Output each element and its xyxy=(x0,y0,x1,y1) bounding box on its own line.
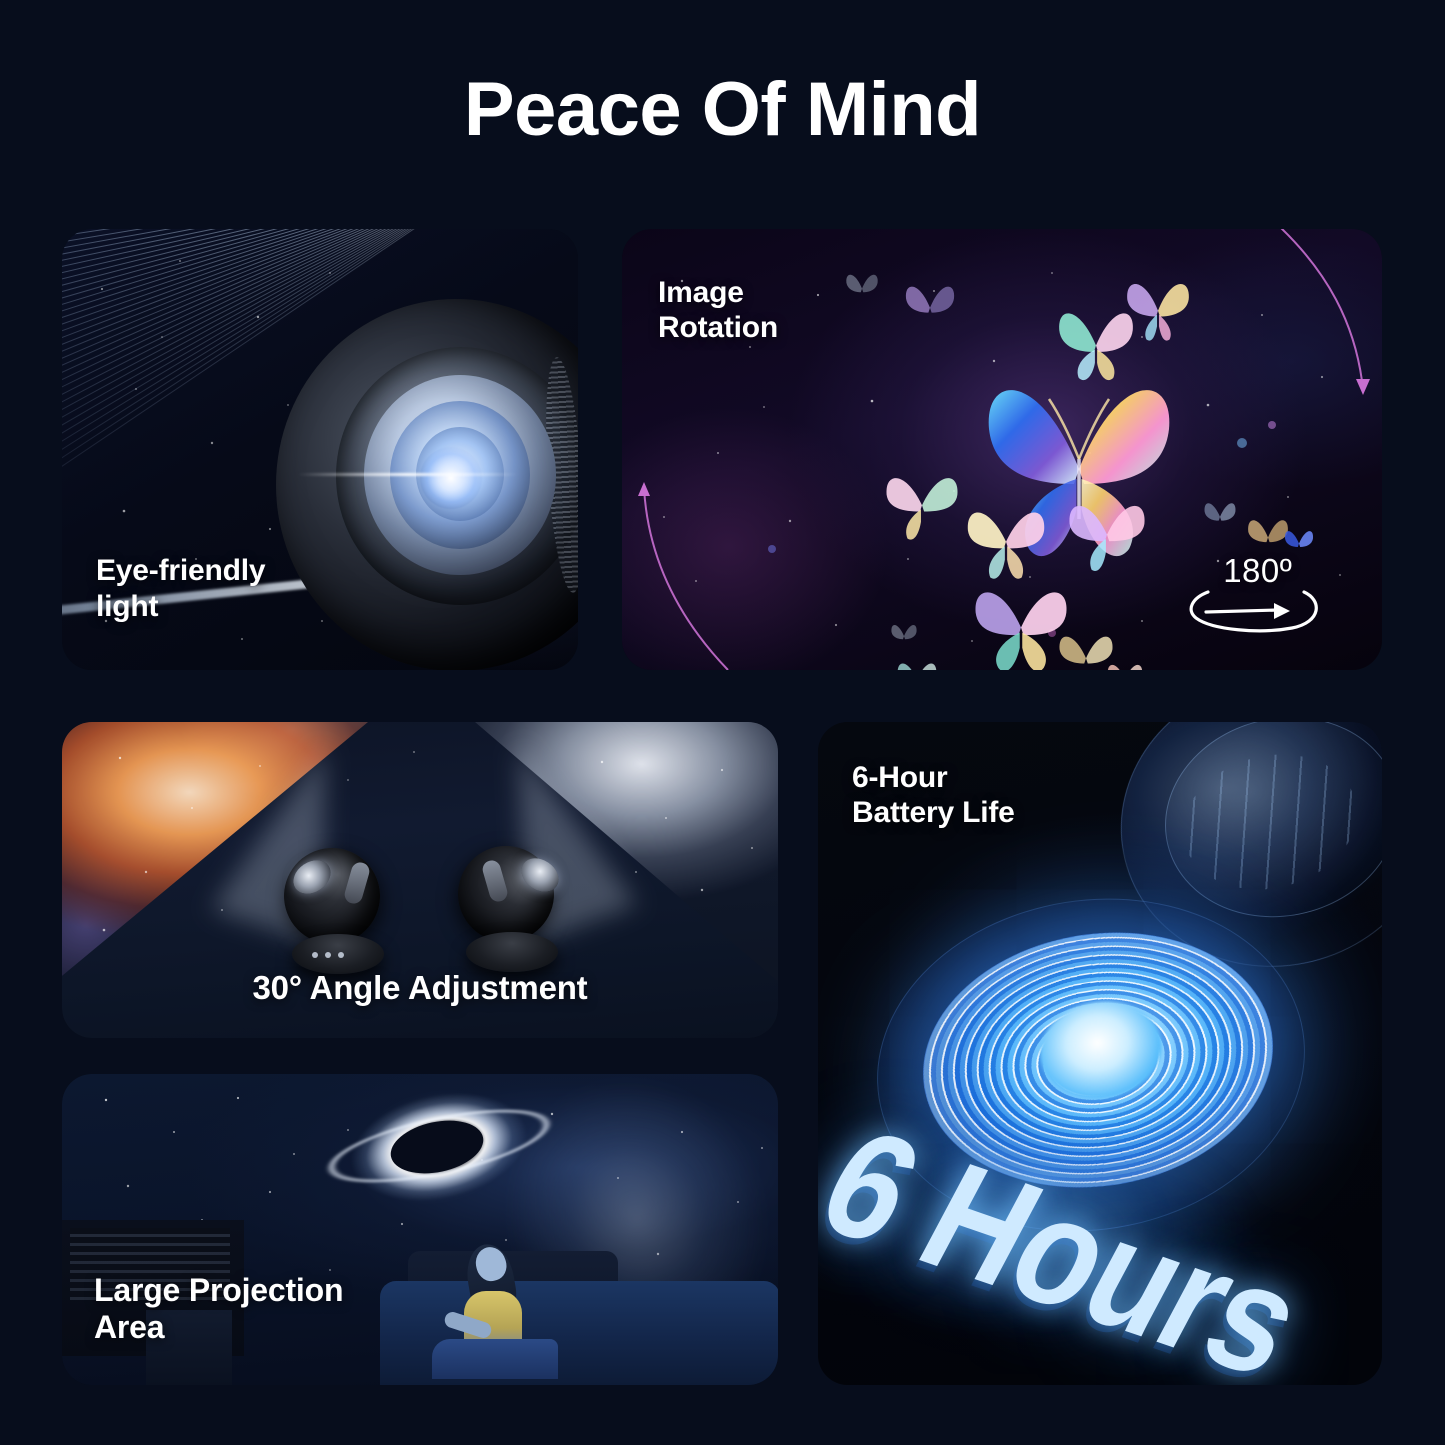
card-label-large-projection-area: Large Projection Area xyxy=(94,1272,343,1348)
card-large-projection-area[interactable]: Large Projection Area xyxy=(62,1074,778,1385)
card-label-battery-life: 6-Hour Battery Life xyxy=(852,760,1015,831)
lens-flare-icon xyxy=(420,447,482,509)
black-hole-projection xyxy=(344,1092,534,1202)
projector-device-left xyxy=(280,848,398,976)
page-title: Peace Of Mind xyxy=(0,70,1445,150)
person-on-bed xyxy=(448,1247,544,1369)
card-battery-life[interactable]: 6 Hours 6-Hour Battery Life xyxy=(818,722,1382,1385)
card-image-rotation[interactable]: 180º Image Rotation xyxy=(622,229,1382,670)
device-indicator-leds xyxy=(312,952,344,958)
infographic-page: Peace Of Mind Eye-friendly xyxy=(0,0,1445,1445)
butterfly-icon xyxy=(890,263,970,343)
card-label-image-rotation: Image Rotation xyxy=(658,275,778,346)
projector-device-right xyxy=(454,846,572,974)
card-label-angle-adjustment: 30° Angle Adjustment xyxy=(62,969,778,1008)
rotation-badge: 180º xyxy=(1190,552,1320,640)
butterfly-icon xyxy=(880,639,954,670)
card-label-eye-friendly-light: Eye-friendly light xyxy=(96,553,265,624)
lens-flare-streak xyxy=(298,473,518,476)
battery-hours-overlay: 6 Hours xyxy=(836,1059,1236,1359)
rotation-arrow-icon xyxy=(1182,578,1332,640)
rotation-arc-left-icon xyxy=(622,448,738,670)
bed-blanket xyxy=(432,1339,558,1379)
butterfly-icon xyxy=(832,255,892,315)
butterfly-icon xyxy=(1092,643,1158,670)
rotation-arc-right-icon xyxy=(1266,229,1382,409)
device-base xyxy=(466,932,558,972)
card-angle-adjustment[interactable]: 30° Angle Adjustment xyxy=(62,722,778,1038)
card-eye-friendly-light[interactable]: Eye-friendly light xyxy=(62,229,578,670)
butterfly-icon xyxy=(1110,257,1206,353)
